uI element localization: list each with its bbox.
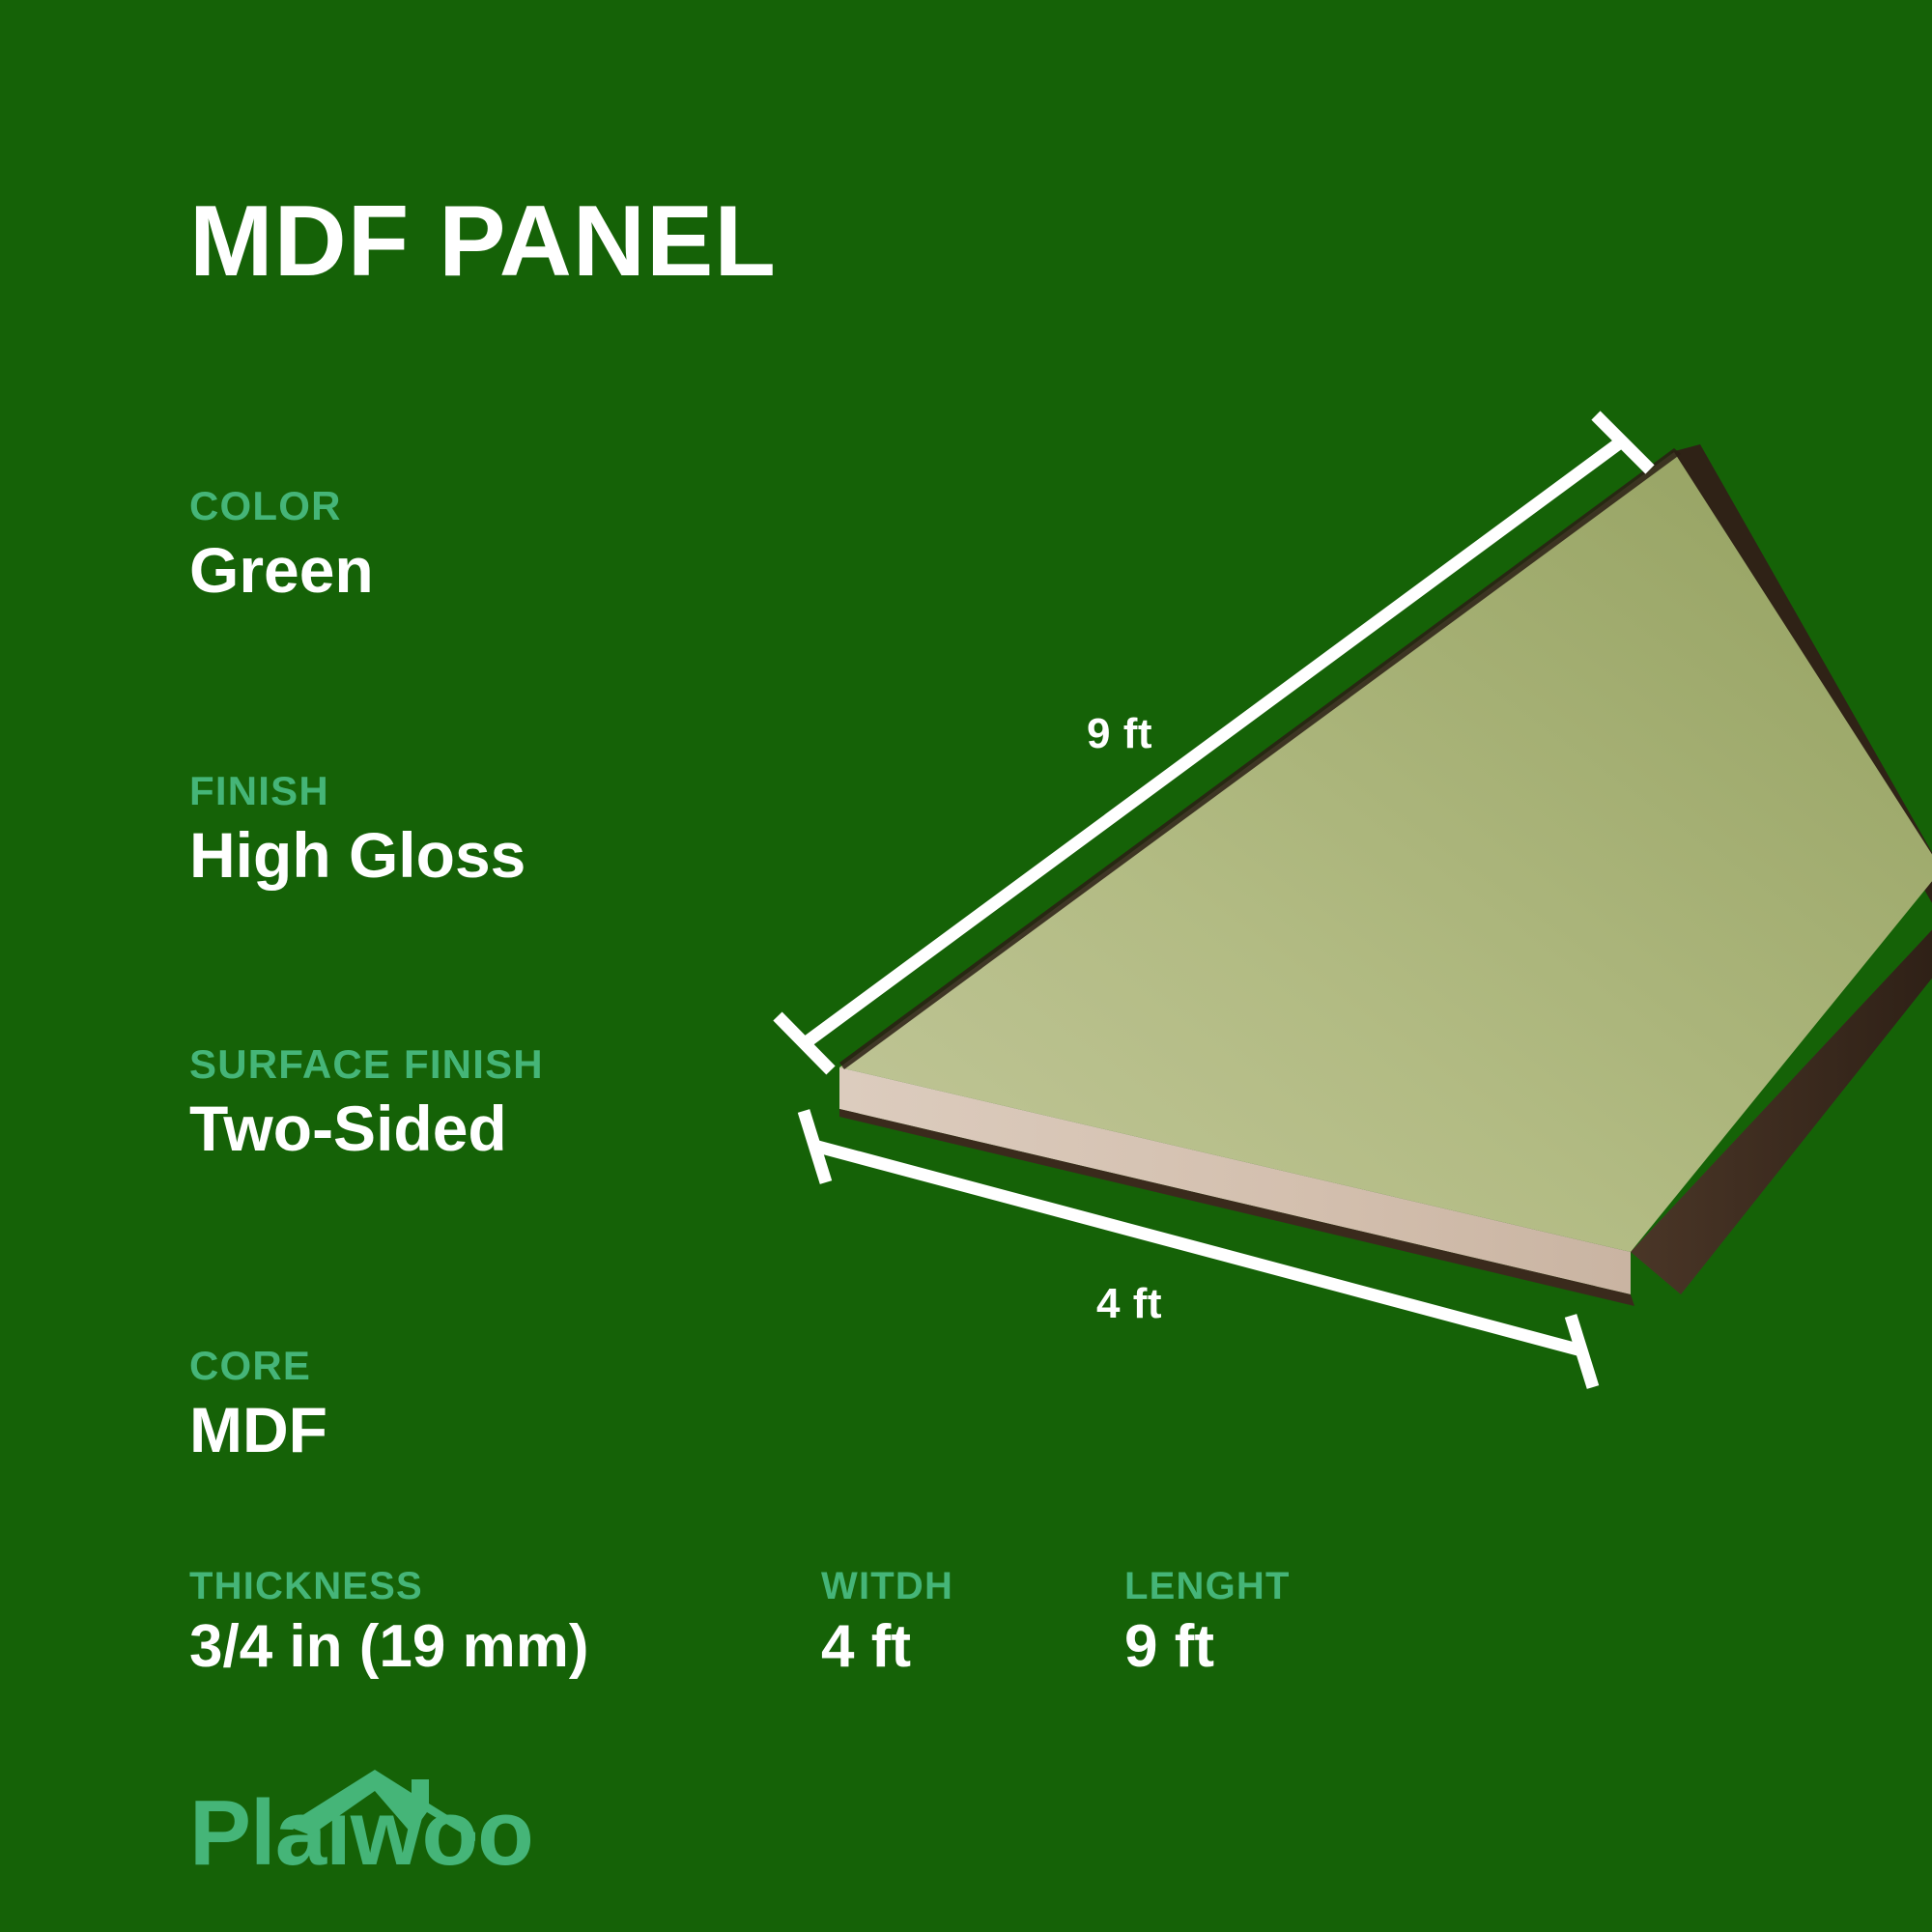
dimension-label-length: LENGHT: [1124, 1565, 1291, 1607]
spec-label-finish: FINISH: [189, 768, 526, 814]
dimension-value-length: 9 ft: [1124, 1611, 1291, 1682]
panel-edge-shadow: [839, 1109, 1634, 1306]
dimension-width: WITDH 4 ft: [821, 1565, 953, 1682]
panel-core-edge: [839, 1067, 1631, 1294]
dimension-label-width: WITDH: [821, 1565, 953, 1607]
dimension-label-thickness: THICKNESS: [189, 1565, 588, 1607]
spec-value-color: Green: [189, 533, 374, 609]
spec-block-core: CORE MDF: [189, 1343, 327, 1468]
spec-block-surface-finish: SURFACE FINISH Two-Sided: [189, 1041, 544, 1167]
infographic-canvas: 9 ft 4 ft MDF PANEL COLOR Green FINISH H…: [0, 0, 1932, 1932]
length-dimension-line: [778, 415, 1650, 1070]
panel-top-outline: [839, 448, 1681, 1069]
panel-bottom-face: [1631, 920, 1932, 1294]
spec-label-color: COLOR: [189, 483, 374, 529]
spec-value-surface-finish: Two-Sided: [189, 1092, 544, 1167]
spec-label-surface-finish: SURFACE FINISH: [189, 1041, 544, 1088]
dimension-length: LENGHT 9 ft: [1124, 1565, 1291, 1682]
width-callout-label: 4 ft: [1096, 1280, 1162, 1328]
length-callout-label: 9 ft: [1087, 710, 1152, 758]
dimension-value-thickness: 3/4 in (19 mm): [189, 1611, 588, 1682]
spec-value-core: MDF: [189, 1393, 327, 1468]
spec-block-finish: FINISH High Gloss: [189, 768, 526, 894]
dimension-value-width: 4 ft: [821, 1611, 953, 1682]
brand-logo[interactable]: Plaiwoo: [189, 1766, 605, 1901]
panel-top-face: [839, 452, 1932, 1252]
panel-back-edge: [1671, 444, 1932, 920]
dimension-thickness: THICKNESS 3/4 in (19 mm): [189, 1565, 588, 1682]
spec-value-finish: High Gloss: [189, 818, 526, 894]
house-roof-icon: [282, 1766, 485, 1841]
page-title: MDF PANEL: [189, 191, 777, 292]
width-dimension-line: [804, 1111, 1593, 1387]
spec-label-core: CORE: [189, 1343, 327, 1389]
spec-block-color: COLOR Green: [189, 483, 374, 609]
